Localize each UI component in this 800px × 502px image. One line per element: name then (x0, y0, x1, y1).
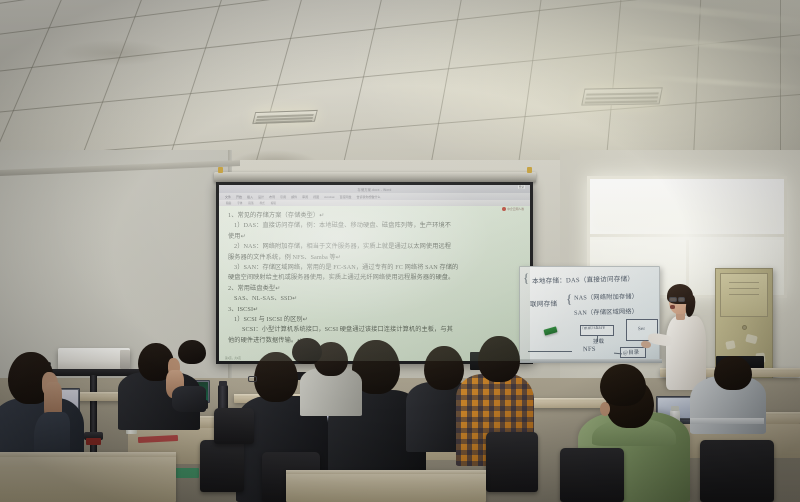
ribbon-tool-1[interactable]: 字体 (237, 201, 242, 205)
cabinet-knob[interactable] (742, 325, 747, 330)
whiteboard-brace-icon: { (566, 291, 572, 307)
ribbon-tab-2[interactable]: 插入 (247, 195, 253, 199)
chair-back[interactable] (200, 440, 244, 492)
projector-lens-housing (120, 350, 130, 369)
projection-screen-surface: 存储方案.docx - Word 登录 文件开始插入设计布局引用邮件审阅视图Ac… (219, 185, 530, 361)
whiteboard-label-mount: 挂载 (593, 337, 604, 345)
chair-back[interactable] (214, 408, 254, 444)
ribbon-tool-0[interactable]: 粘贴 (226, 201, 231, 205)
document-line-8: SAS、NL-SAS、SSD↵ (228, 294, 522, 304)
document-line-2: 使用↵ (228, 232, 522, 242)
whiteboard-bubble-dir-label: @目录 (623, 348, 640, 356)
green-box-item (175, 468, 199, 478)
cabinet-upper-panel (720, 273, 768, 317)
whiteboard-line-san: SAN（存储区域网络） (574, 306, 638, 317)
document-login-badge[interactable]: 登录 (518, 185, 525, 189)
ribbon-tab-8[interactable]: 视图 (313, 195, 319, 199)
ribbon-tab-4[interactable]: 布局 (269, 195, 275, 199)
whiteboard-line-network-storage: 联网存储 (530, 298, 557, 309)
whiteboard[interactable]: { 本地存储：DAS（直接访问存储） 联网存储 { NAS（网络附加存储） SA… (519, 266, 660, 361)
chair-back[interactable] (560, 448, 624, 502)
student-head-silhouette (178, 340, 206, 364)
document-line-6: 硬盘空间映射给主机或服务器使用，实质上通过光纤网络使用远程服务器的硬盘。 (228, 273, 522, 283)
instructor-mouth (670, 305, 675, 309)
student-glasses (248, 376, 257, 382)
instructor-glasses (669, 297, 677, 302)
document-watermark-logo: 中企云网人教 (502, 207, 524, 211)
ribbon-tool-2[interactable]: 段落 (248, 201, 253, 205)
student-head (600, 364, 646, 406)
ribbon-tab-9[interactable]: Acrobat (324, 195, 334, 199)
classroom-photo: 存储方案.docx - Word 登录 文件开始插入设计布局引用邮件审阅视图Ac… (0, 0, 800, 502)
whiteboard-marker-tray (519, 359, 662, 363)
whiteboard-underline (528, 351, 572, 352)
cabinet-sticker (745, 334, 758, 344)
whiteboard-brace-icon: { (523, 270, 529, 286)
document-line-4: 服务器的文件系统，例 NFS、Samba 等↵ (228, 253, 522, 263)
instructor-glasses (678, 297, 685, 302)
student-head (478, 336, 520, 382)
ribbon-tab-11[interactable]: 告诉我你想做什么 (357, 195, 381, 199)
status-page-count: 第1页，共1页 (225, 356, 241, 360)
instructor-torso (666, 316, 706, 390)
student-head-silhouette (292, 338, 322, 364)
document-line-10: 1）SCSI 与 ISCSI 的区别↵ (228, 315, 522, 325)
desk-foreground-left (0, 452, 176, 502)
student-ear (600, 402, 610, 416)
white-bottle-cap (671, 406, 679, 411)
cabinet-sticker (725, 340, 735, 350)
ribbon-tool-3[interactable]: 样式 (260, 201, 265, 205)
document-line-0: 1、常见的存储方案（存储类型）↵ (228, 211, 522, 221)
ribbon-tab-5[interactable]: 引用 (280, 195, 286, 199)
document-body: 1、常见的存储方案（存储类型）↵1）DAS：直接访问存储，例：本地磁盘、移动硬盘… (219, 206, 530, 346)
document-line-3: 2）NAS：网络附加存储，相当于文件服务器，实质上就是通过以太网使用远程 (228, 242, 522, 252)
student-jacket-hem (690, 418, 764, 424)
window-upper-pane (590, 179, 784, 237)
whiteboard-box-mount-share-label: /mnt/share (582, 326, 605, 332)
ribbon-tab-7[interactable]: 审阅 (302, 195, 308, 199)
document-ribbon-tabs[interactable]: 文件开始插入设计布局引用邮件审阅视图Acrobat百度网盘告诉我你想做什么 (219, 193, 530, 200)
logo-text: 中企云网人教 (507, 207, 524, 211)
document-line-5: 3）SAN：存储区域网络，常用的是 FC-SAN，通过专有的 FC 网络将 SA… (228, 263, 522, 273)
document-line-7: 2、常用磁盘类型↵ (228, 284, 522, 294)
ribbon-tool-4[interactable]: 编辑 (271, 201, 276, 205)
ribbon-tab-0[interactable]: 文件 (225, 195, 231, 199)
ribbon-tab-3[interactable]: 设计 (258, 195, 264, 199)
thermos-cap (219, 381, 227, 386)
ribbon-tab-6[interactable]: 邮件 (291, 195, 297, 199)
document-line-1: 1）DAS：直接访问存储，例：本地磁盘、移动硬盘、磁盘阵列等，生产环境不 (228, 221, 522, 231)
whiteboard-label-nfs: NFS (583, 346, 596, 353)
desk-foreground-center (286, 470, 486, 502)
whiteboard-box-server-label: Ser (638, 327, 645, 332)
student-head (424, 346, 464, 390)
projector-stand-label (86, 438, 101, 445)
ribbon-tab-1[interactable]: 开始 (236, 195, 242, 199)
logo-dot-icon (502, 207, 506, 211)
student-arm (172, 386, 206, 412)
chair-back[interactable] (486, 432, 538, 492)
ribbon-tab-10[interactable]: 百度网盘 (339, 195, 351, 199)
whiteboard-line-nas: NAS（网络附加存储） (574, 291, 638, 302)
document-line-11: SCSI：小型计算机系统接口，SCSI 硬盘通过该接口连接计算机的主板，与其 (228, 325, 522, 335)
document-titlebar: 存储方案.docx - Word (219, 185, 530, 193)
student-head (714, 356, 752, 390)
document-line-9: 3、ISCSI↵ (228, 305, 522, 315)
chair-back[interactable] (700, 440, 774, 502)
projection-screen[interactable]: 存储方案.docx - Word 登录 文件开始插入设计布局引用邮件审阅视图Ac… (216, 182, 533, 364)
student-head (254, 352, 298, 402)
